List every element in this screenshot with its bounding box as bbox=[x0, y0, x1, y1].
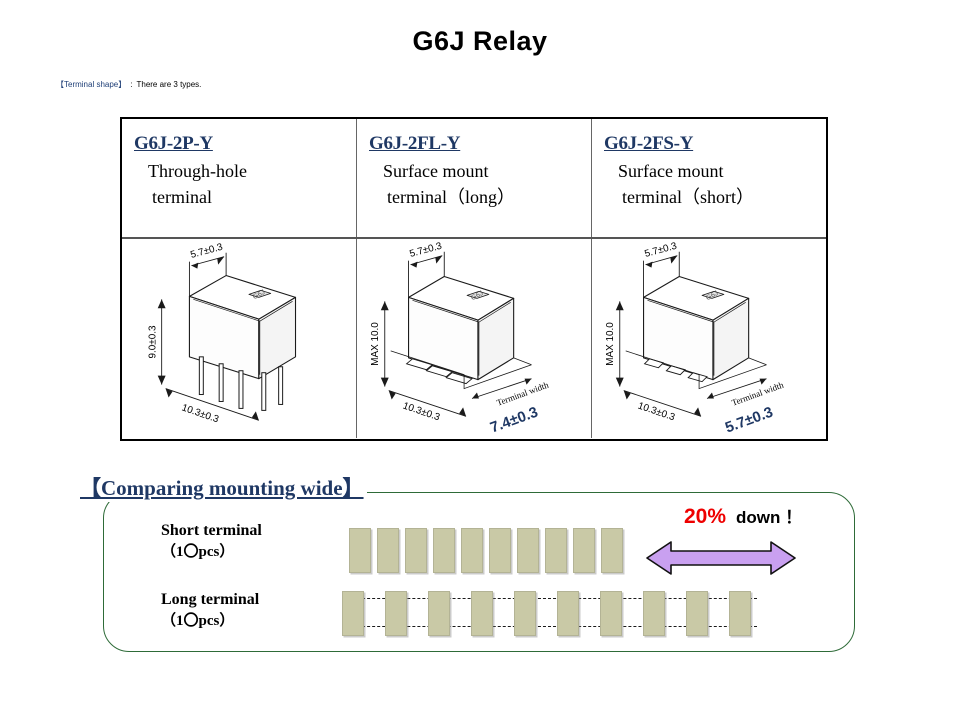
terminal-shape-note-bracket: 【Terminal shape】 bbox=[56, 80, 126, 89]
relay-drawing-surface-long: G6J 5 bbox=[357, 239, 591, 438]
page-title: G6J Relay bbox=[0, 26, 960, 57]
relay-block bbox=[514, 591, 536, 636]
relay-block bbox=[601, 528, 623, 573]
table-cell-type-1-drawing: G6J 5.7±0.3 bbox=[122, 239, 356, 438]
table-cell-type-2-drawing: G6J 5 bbox=[356, 239, 591, 438]
table-cell-type-3-header: G6J-2FS-Y Surface mount terminal（short） bbox=[591, 119, 826, 237]
relay-drawing-through-hole: G6J 5.7±0.3 bbox=[122, 239, 356, 438]
relay-block bbox=[600, 591, 622, 636]
short-terminal-label: Short terminal （1〇pcs） bbox=[161, 520, 262, 562]
table-cell-type-1-header: G6J-2P-Y Through-hole terminal bbox=[122, 119, 356, 237]
relay-block bbox=[405, 528, 427, 573]
relay-block bbox=[428, 591, 450, 636]
reduction-callout: 20%down ！ bbox=[684, 503, 802, 529]
relay-types-table: G6J-2P-Y Through-hole terminal G6J-2FL-Y… bbox=[120, 117, 828, 441]
part-desc-2-line1: Surface mount bbox=[383, 161, 488, 181]
long-terminal-blocks bbox=[342, 591, 757, 636]
relay-block bbox=[377, 528, 399, 573]
relay-drawing-surface-short: G6J 5.7±0.3 bbox=[592, 239, 826, 438]
table-header-row: G6J-2P-Y Through-hole terminal G6J-2FL-Y… bbox=[122, 119, 826, 239]
long-terminal-label: Long terminal （1〇pcs） bbox=[161, 589, 259, 631]
table-cell-type-3-drawing: G6J 5.7±0.3 bbox=[591, 239, 826, 438]
part-number-1: G6J-2P-Y bbox=[134, 133, 213, 155]
relay-block bbox=[729, 591, 751, 636]
part-desc-1: Through-hole terminal bbox=[148, 159, 356, 210]
dim-left-2: MAX 10.0 bbox=[370, 322, 381, 366]
relay-block bbox=[643, 591, 665, 636]
reduction-down-label: down ！ bbox=[736, 508, 802, 527]
part-desc-2-line2: terminal（long） bbox=[387, 185, 591, 211]
relay-block bbox=[545, 528, 567, 573]
dim-left-3: MAX 10.0 bbox=[605, 322, 616, 366]
short-terminal-name: Short terminal bbox=[161, 522, 262, 539]
relay-block bbox=[342, 591, 364, 636]
terminal-shape-note-text: There are 3 types. bbox=[136, 80, 201, 89]
terminal-shape-note: 【Terminal shape】:There are 3 types. bbox=[56, 79, 201, 90]
part-desc-3-line2: terminal（short） bbox=[622, 185, 826, 211]
terminal-width-value-2: 7.4±0.3 bbox=[488, 405, 540, 437]
relay-block bbox=[686, 591, 708, 636]
long-terminal-name: Long terminal bbox=[161, 591, 259, 608]
part-number-3: G6J-2FS-Y bbox=[604, 133, 693, 155]
comparison-title: 【Comparing mounting wide】 bbox=[80, 472, 367, 502]
dim-left-1: 9.0±0.3 bbox=[148, 325, 159, 358]
short-terminal-blocks bbox=[349, 528, 629, 573]
part-number-2: G6J-2FL-Y bbox=[369, 133, 460, 155]
part-desc-1-line2: terminal bbox=[152, 185, 356, 211]
reduction-percent: 20% bbox=[684, 505, 726, 528]
relay-block bbox=[349, 528, 371, 573]
dim-bottom-2: 10.3±0.3 bbox=[401, 401, 441, 424]
relay-block bbox=[573, 528, 595, 573]
relay-block bbox=[461, 528, 483, 573]
relay-block bbox=[517, 528, 539, 573]
comparison-arrow bbox=[645, 538, 797, 578]
relay-block bbox=[557, 591, 579, 636]
dim-bottom-1: 10.3±0.3 bbox=[180, 403, 220, 426]
table-cell-type-2-header: G6J-2FL-Y Surface mount terminal（long） bbox=[356, 119, 591, 237]
terminal-width-label-2: Terminal width bbox=[495, 379, 550, 407]
part-desc-2: Surface mount terminal（long） bbox=[383, 159, 591, 210]
part-desc-1-line1: Through-hole bbox=[148, 161, 247, 181]
double-headed-arrow-icon bbox=[645, 538, 797, 578]
relay-block bbox=[385, 591, 407, 636]
table-drawing-row: G6J 5.7±0.3 bbox=[122, 239, 826, 438]
terminal-width-value-3: 5.7±0.3 bbox=[723, 405, 775, 437]
relay-block bbox=[433, 528, 455, 573]
terminal-shape-note-separator: : bbox=[126, 80, 136, 89]
terminal-width-label-3: Terminal width bbox=[730, 379, 785, 407]
part-desc-3: Surface mount terminal（short） bbox=[618, 159, 826, 210]
dim-bottom-3: 10.3±0.3 bbox=[636, 401, 676, 424]
long-terminal-pcs: （1〇pcs） bbox=[161, 611, 259, 631]
part-desc-3-line1: Surface mount bbox=[618, 161, 723, 181]
relay-block bbox=[471, 591, 493, 636]
short-terminal-pcs: （1〇pcs） bbox=[161, 542, 262, 562]
relay-block bbox=[489, 528, 511, 573]
